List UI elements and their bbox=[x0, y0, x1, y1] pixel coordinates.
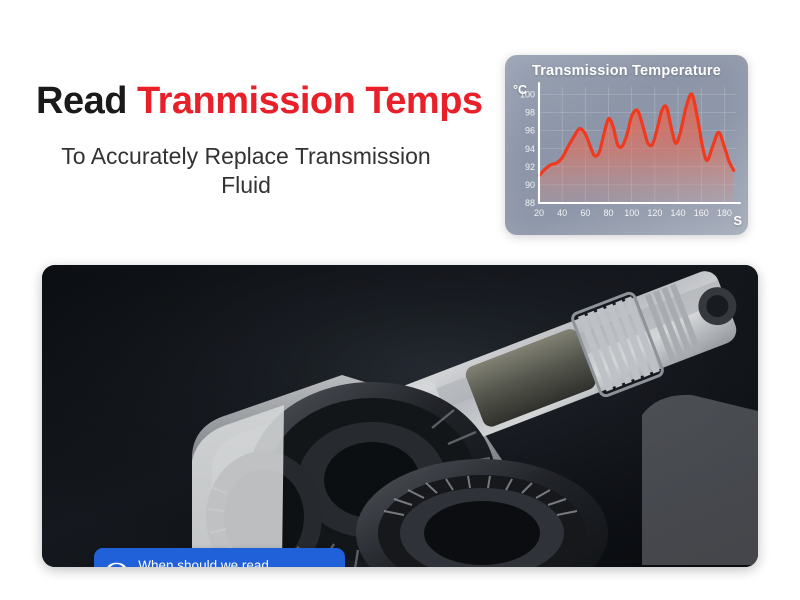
svg-text:100: 100 bbox=[520, 89, 535, 99]
question-text-1: When should we read transmission tempera… bbox=[138, 557, 333, 567]
chart-plot-area: 100989694929088 20406080100120140160180 bbox=[505, 55, 748, 235]
svg-text:80: 80 bbox=[604, 208, 614, 218]
svg-text:96: 96 bbox=[525, 126, 535, 136]
svg-text:20: 20 bbox=[534, 208, 544, 218]
title-part-red: Tranmission Temps bbox=[137, 80, 483, 122]
svg-text:88: 88 bbox=[525, 198, 535, 208]
svg-text:94: 94 bbox=[525, 144, 535, 154]
question-marker-1: Q bbox=[104, 560, 129, 567]
page-title: Read Tranmission Temps bbox=[36, 80, 483, 123]
title-part-black: Read bbox=[36, 80, 137, 122]
page-subtitle: To Accurately Replace Transmission Fluid bbox=[36, 142, 456, 201]
chart-x-tick-labels: 20406080100120140160180 bbox=[534, 208, 732, 218]
svg-text:180: 180 bbox=[717, 208, 732, 218]
transmission-differential-cutaway-photo bbox=[42, 265, 758, 567]
svg-text:120: 120 bbox=[647, 208, 662, 218]
question-bubble-1: Q When should we read transmission tempe… bbox=[94, 548, 345, 567]
chart-y-tick-labels: 100989694929088 bbox=[520, 89, 535, 208]
svg-text:160: 160 bbox=[694, 208, 709, 218]
infographic-page: Read Tranmission Temps To Accurately Rep… bbox=[0, 0, 800, 600]
transmission-photo-panel: Q When should we read transmission tempe… bbox=[42, 265, 758, 567]
svg-text:40: 40 bbox=[557, 208, 567, 218]
svg-text:92: 92 bbox=[525, 162, 535, 172]
svg-text:60: 60 bbox=[580, 208, 590, 218]
svg-text:98: 98 bbox=[525, 108, 535, 118]
svg-text:140: 140 bbox=[671, 208, 686, 218]
svg-text:100: 100 bbox=[624, 208, 639, 218]
transmission-temperature-chart-card: Transmission Temperature °C S 1009896949… bbox=[505, 55, 748, 235]
svg-text:90: 90 bbox=[525, 180, 535, 190]
